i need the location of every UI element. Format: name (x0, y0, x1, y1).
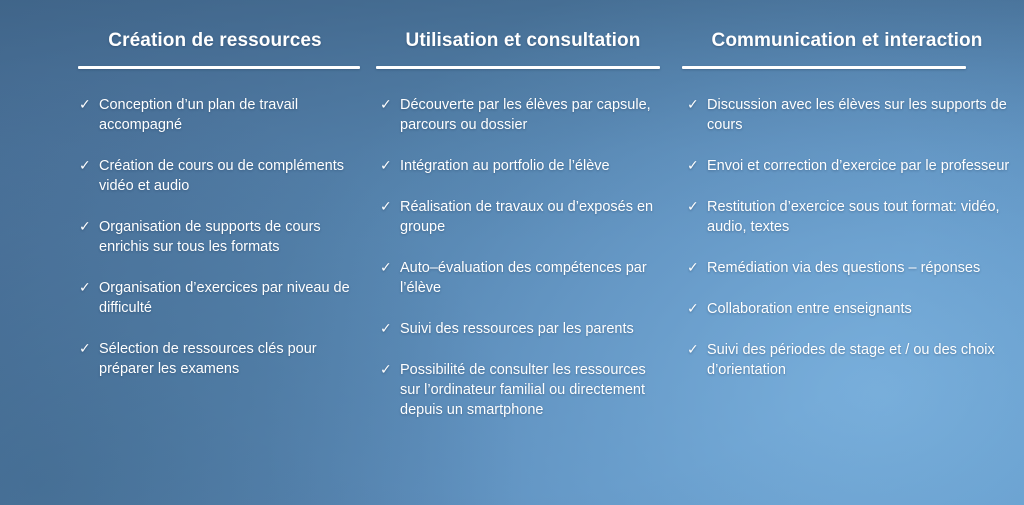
column-title-communication: Communication et interaction (682, 0, 1012, 52)
list-item: ✓ Conception d’un plan de travail accomp… (79, 95, 358, 135)
list-item: ✓ Remédiation via des questions – répons… (687, 258, 1012, 278)
check-icon: ✓ (687, 258, 701, 278)
column-communication-et-interaction: Communication et interaction ✓ Discussio… (678, 0, 1024, 505)
list-item: ✓ Organisation d’exercices par niveau de… (79, 278, 358, 318)
check-icon: ✓ (687, 340, 701, 360)
bullet-text: Sélection de ressources clés pour prépar… (99, 341, 317, 377)
list-item: ✓ Possibilité de consulter les ressource… (380, 360, 668, 420)
bullet-text: Suivi des périodes de stage et / ou des … (707, 342, 995, 378)
check-icon: ✓ (380, 360, 394, 380)
check-icon: ✓ (79, 217, 93, 237)
check-icon: ✓ (380, 258, 394, 278)
check-icon: ✓ (687, 156, 701, 176)
list-item: ✓ Sélection de ressources clés pour prép… (79, 339, 358, 379)
column-creation-de-ressources: Création de ressources ✓ Conception d’un… (0, 0, 368, 505)
list-item: ✓ Intégration au portfolio de l’élève (380, 156, 668, 176)
list-item: ✓ Auto–évaluation des compétences par l’… (380, 258, 668, 298)
check-icon: ✓ (79, 156, 93, 176)
check-icon: ✓ (380, 197, 394, 217)
bullet-text: Conception d’un plan de travail accompag… (99, 97, 298, 133)
list-item: ✓ Restitution d’exercice sous tout forma… (687, 197, 1012, 237)
check-icon: ✓ (79, 95, 93, 115)
check-icon: ✓ (687, 95, 701, 115)
list-item: ✓ Organisation de supports de cours enri… (79, 217, 358, 257)
bullet-list-communication: ✓ Discussion avec les élèves sur les sup… (682, 69, 1012, 380)
list-item: ✓ Découverte par les élèves par capsule,… (380, 95, 668, 135)
check-icon: ✓ (380, 319, 394, 339)
bullet-text: Possibilité de consulter les ressources … (400, 362, 646, 418)
bullet-text: Intégration au portfolio de l’élève (400, 158, 610, 174)
bullet-text: Création de cours ou de compléments vidé… (99, 158, 344, 194)
list-item: ✓ Suivi des ressources par les parents (380, 319, 668, 339)
list-item: ✓ Envoi et correction d’exercice par le … (687, 156, 1012, 176)
bullet-text: Réalisation de travaux ou d’exposés en g… (400, 199, 653, 235)
check-icon: ✓ (687, 197, 701, 217)
bullet-list-creation: ✓ Conception d’un plan de travail accomp… (78, 69, 358, 379)
bullet-text: Collaboration entre enseignants (707, 301, 912, 317)
column-title-utilisation: Utilisation et consultation (378, 0, 668, 52)
column-utilisation-et-consultation: Utilisation et consultation ✓ Découverte… (368, 0, 678, 505)
bullet-text: Restitution d’exercice sous tout format:… (707, 199, 1000, 235)
check-icon: ✓ (380, 95, 394, 115)
bullet-text: Auto–évaluation des compétences par l’él… (400, 260, 647, 296)
bullet-text: Organisation d’exercices par niveau de d… (99, 280, 350, 316)
bullet-text: Envoi et correction d’exercice par le pr… (707, 158, 1009, 174)
bullet-list-utilisation: ✓ Découverte par les élèves par capsule,… (378, 69, 668, 420)
bullet-text: Suivi des ressources par les parents (400, 321, 634, 337)
check-icon: ✓ (79, 278, 93, 298)
list-item: ✓ Création de cours ou de compléments vi… (79, 156, 358, 196)
check-icon: ✓ (380, 156, 394, 176)
check-icon: ✓ (79, 339, 93, 359)
list-item: ✓ Collaboration entre enseignants (687, 299, 1012, 319)
list-item: ✓ Réalisation de travaux ou d’exposés en… (380, 197, 668, 237)
list-item: ✓ Suivi des périodes de stage et / ou de… (687, 340, 1012, 380)
bullet-text: Remédiation via des questions – réponses (707, 260, 980, 276)
bullet-text: Découverte par les élèves par capsule, p… (400, 97, 651, 133)
check-icon: ✓ (687, 299, 701, 319)
column-title-creation: Création de ressources (72, 0, 358, 52)
bullet-text: Discussion avec les élèves sur les suppo… (707, 97, 1007, 133)
bullet-text: Organisation de supports de cours enrich… (99, 219, 321, 255)
slide-canvas: Création de ressources ✓ Conception d’un… (0, 0, 1024, 505)
column-container: Création de ressources ✓ Conception d’un… (0, 0, 1024, 505)
list-item: ✓ Discussion avec les élèves sur les sup… (687, 95, 1012, 135)
